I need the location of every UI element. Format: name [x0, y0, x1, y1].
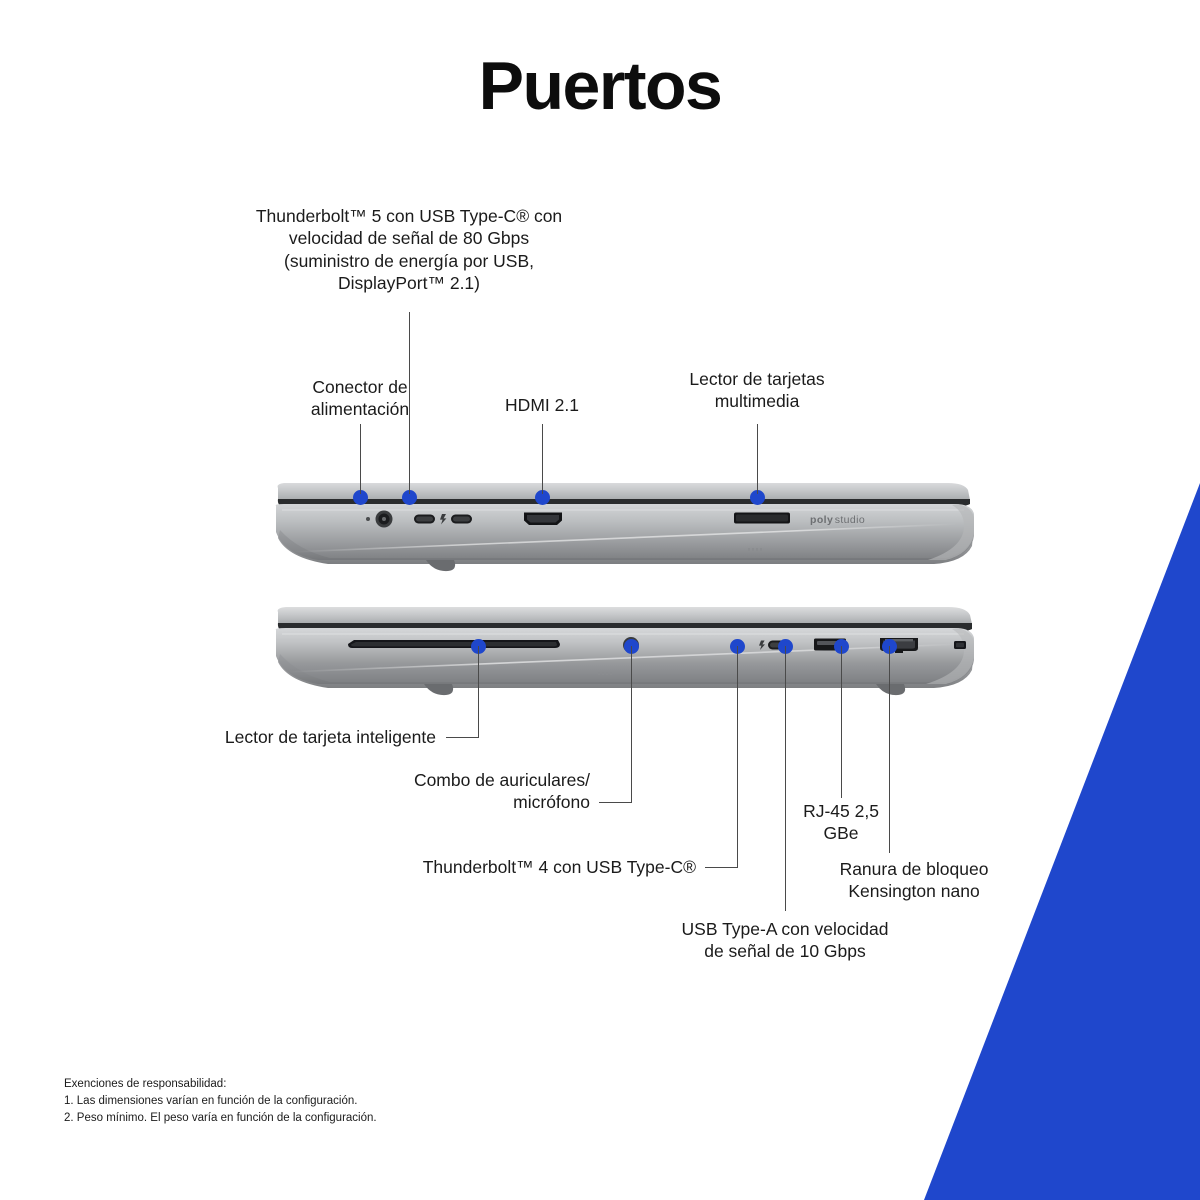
callout-label-kensington: Ranura de bloqueo Kensington nano [800, 858, 1028, 903]
callout-label-power-connector: Conector de alimentación [260, 376, 460, 421]
poly-studio-brand: polystudio [810, 514, 865, 526]
leader-line-card-reader [757, 424, 758, 494]
leader-line-smart-card-reader-v [478, 646, 479, 738]
callout-label-card-reader: Lector de tarjetas multimedia [652, 368, 862, 413]
page-title: Puertos [0, 52, 1200, 120]
callout-label-thunderbolt4: Thunderbolt™ 4 con USB Type-C® [330, 856, 696, 878]
leader-line-usb-type-a [785, 646, 786, 911]
callout-label-thunderbolt5: Thunderbolt™ 5 con USB Type-C® con veloc… [222, 205, 596, 295]
leader-line-headphone-v [631, 646, 632, 803]
callout-label-usb-type-a: USB Type-A con velocidad de señal de 10 … [625, 918, 945, 963]
leader-line-thunderbolt4-h [705, 867, 738, 868]
disclaimer-text: Exenciones de responsabilidad: 1. Las di… [64, 1076, 377, 1127]
leader-line-rj45 [841, 646, 842, 798]
laptop-rear-edge-illustration: polystudio [258, 474, 982, 580]
laptop-side-edge-illustration [258, 600, 982, 706]
callout-label-smart-card-reader: Lector de tarjeta inteligente [110, 726, 436, 748]
callout-label-rj45: RJ-45 2,5 GBe [762, 800, 920, 845]
callout-label-hdmi: HDMI 2.1 [462, 394, 622, 416]
leader-line-hdmi [542, 424, 543, 494]
leader-line-smart-card-reader-h [446, 737, 479, 738]
leader-line-power-connector [360, 424, 361, 494]
leader-line-headphone-h [599, 802, 632, 803]
callout-label-headphone-mic-combo: Combo de auriculares/ micrófono [330, 769, 590, 814]
leader-line-thunderbolt4-v [737, 646, 738, 868]
